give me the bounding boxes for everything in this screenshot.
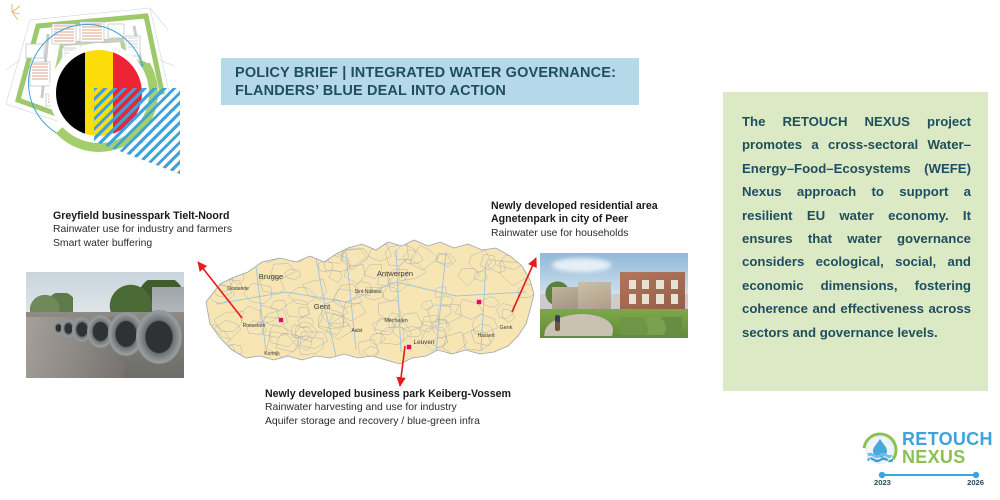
map-city-label: Kortrijk <box>264 351 280 357</box>
retouch-nexus-logo: RETOUCH NEXUS 2023 2026 <box>862 430 992 488</box>
photo-agnetenpark-residential <box>540 253 688 338</box>
map-city-label: Antwerpen <box>377 269 413 278</box>
map-project-marker <box>477 300 481 304</box>
map-outline <box>206 240 534 364</box>
map-city-label: Roeselare <box>243 323 266 329</box>
policy-brief-slide: POLICY BRIEF | INTEGRATED WATER GOVERNAN… <box>0 0 1000 500</box>
logo-word-nexus: NEXUS <box>902 448 993 467</box>
map-city-label: Mechelen <box>384 318 407 324</box>
map-city-label: Hasselt <box>478 333 495 339</box>
caption-heading: Greyfield businesspark Tielt-Noord <box>53 210 303 223</box>
title-line-1: POLICY BRIEF | INTEGRATED WATER GOVERNAN… <box>235 64 639 82</box>
caption-sub-2: Smart water buffering <box>53 237 303 250</box>
caption-keiberg-vossem: Newly developed business park Keiberg-Vo… <box>265 388 535 428</box>
map-city-label: Gent <box>314 302 331 311</box>
caption-heading: Newly developed business park Keiberg-Vo… <box>265 388 535 401</box>
concrete-pipe <box>136 310 182 364</box>
photo-cloud <box>552 258 611 272</box>
map-project-marker <box>407 345 411 349</box>
flanders-map: OostendeBruggeRoeselareKortrijkGentSint-… <box>196 232 540 380</box>
project-timeline: 2023 2026 <box>874 470 984 488</box>
caption-heading-line-2: Agnetenpark in city of Peer <box>491 213 706 226</box>
caption-sub-2: Aquifer storage and recovery / blue-gree… <box>265 415 535 428</box>
emblem-hatch-decoration <box>94 88 180 174</box>
caption-heading-line-1: Newly developed residential area <box>491 200 706 213</box>
map-city-label: Sint-Niklaas <box>355 289 382 295</box>
map-city-label: Oostende <box>227 286 249 292</box>
photo-greyfield-pipes <box>26 272 184 378</box>
map-city-label: Genk <box>500 325 513 331</box>
caption-sub-1: Rainwater harvesting and use for industr… <box>265 401 535 414</box>
caption-sub-1: Rainwater use for households <box>491 227 706 240</box>
photo-shrubs <box>620 317 682 336</box>
caption-tielt-noord: Greyfield businesspark Tielt-Noord Rainw… <box>53 210 303 250</box>
abstract-text: The RETOUCH NEXUS project promotes a cro… <box>742 110 971 344</box>
page-title: POLICY BRIEF | INTEGRATED WATER GOVERNAN… <box>221 58 639 105</box>
map-city-label: Leuven <box>414 339 435 346</box>
project-abstract-panel: The RETOUCH NEXUS project promotes a cro… <box>723 92 988 391</box>
caption-agnetenpark: Newly developed residential area Agneten… <box>491 200 706 240</box>
water-droplet-icon <box>862 432 898 468</box>
map-project-marker <box>279 318 283 322</box>
timeline-start-year: 2023 <box>874 478 891 487</box>
caption-sub-1: Rainwater use for industry and farmers <box>53 223 303 236</box>
title-line-2: FLANDERS’ BLUE DEAL INTO ACTION <box>235 82 639 100</box>
logo-wordmark: RETOUCH NEXUS <box>902 430 993 467</box>
timeline-end-year: 2026 <box>967 478 984 487</box>
logo-word-retouch: RETOUCH <box>902 430 993 448</box>
map-city-label: Brugge <box>259 272 284 281</box>
map-city-label: Aalst <box>351 328 363 334</box>
belgium-emblem <box>22 20 182 180</box>
photo-person <box>555 315 560 331</box>
